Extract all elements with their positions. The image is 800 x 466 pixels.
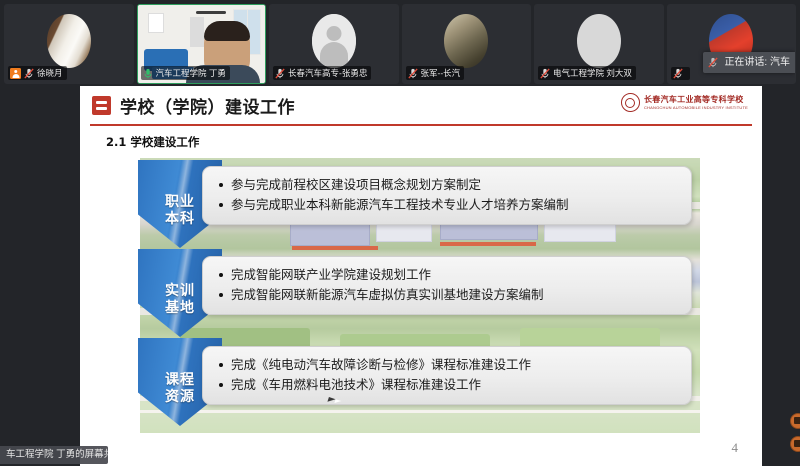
logo-name-en: CHANGCHUN AUTOMOBILE INDUSTRY INSTITUTE	[644, 105, 748, 111]
participant-filmstrip: 徐晓月 汽车工	[0, 0, 800, 85]
participant-tile-self[interactable]: 汽车工程学院 丁勇	[137, 4, 267, 84]
logo-name-cn: 长春汽车工业高等专科学校	[644, 95, 748, 105]
mic-muted-icon	[275, 68, 285, 79]
mic-muted-icon	[540, 68, 550, 79]
mic-muted-icon	[408, 68, 418, 79]
bullet-item: 完成《车用燃料电池技术》课程标准建设工作	[217, 375, 681, 395]
host-badge-icon	[10, 68, 21, 79]
section-callout: 参与完成前程校区建设项目概念规划方案制定 参与完成职业本科新能源汽车工程技术专业…	[202, 166, 692, 225]
university-logo: 长春汽车工业高等专科学校 CHANGCHUN AUTOMOBILE INDUST…	[621, 93, 748, 112]
screen-share-banner: 车工程学院 丁勇的屏幕共享	[0, 446, 108, 464]
participant-name: 徐晓月	[37, 67, 63, 79]
header-divider	[90, 124, 752, 126]
participant-name: 张军--长汽	[421, 67, 461, 79]
participant-namebar: 电气工程学院 刘大双	[538, 66, 636, 80]
slide-subtitle: 2.1 学校建设工作	[106, 134, 199, 150]
red-list-icon	[92, 96, 111, 115]
participant-tile[interactable]: 长春汽车高专-张勇忠	[269, 4, 399, 84]
bullet-item: 完成《纯电动汽车故障诊断与检修》课程标准建设工作	[217, 355, 681, 375]
participant-namebar: 张军--长汽	[406, 66, 465, 80]
bullet-item: 完成智能网联产业学院建设规划工作	[217, 265, 681, 285]
participant-name: 电气工程学院 刘大双	[553, 67, 632, 79]
avatar	[47, 14, 91, 68]
mic-muted-icon	[708, 57, 718, 68]
speaking-label: 正在讲话: 汽车	[724, 56, 790, 69]
participant-name: 长春汽车高专-张勇忠	[288, 67, 367, 79]
participant-namebar	[671, 67, 690, 80]
slide-title: 学校（学院）建设工作	[120, 93, 295, 118]
meeting-app: 徐晓月 汽车工	[0, 0, 800, 466]
participant-namebar: 徐晓月	[8, 66, 67, 80]
bullet-item: 参与完成职业本科新能源汽车工程技术专业人才培养方案编制	[217, 195, 681, 215]
participant-tile[interactable]: 徐晓月	[4, 4, 134, 84]
bullet-item: 参与完成前程校区建设项目概念规划方案制定	[217, 175, 681, 195]
floating-action-icons[interactable]	[790, 413, 800, 452]
participant-tile[interactable]: 电气工程学院 刘大双	[534, 4, 664, 84]
participant-tile[interactable]: 正在讲话: 汽车	[667, 4, 797, 84]
participant-namebar: 汽车工程学院 丁勇	[141, 66, 230, 80]
mic-muted-icon	[24, 68, 34, 79]
participant-name: 汽车工程学院 丁勇	[156, 67, 226, 79]
slide-header: 学校（学院）建设工作 长春汽车工业高等专科学校 CHANGCHUN AUTOMO…	[80, 86, 762, 126]
participant-namebar: 长春汽车高专-张勇忠	[273, 66, 371, 80]
slide-page-number: 4	[732, 440, 739, 456]
avatar	[312, 14, 356, 68]
avatar	[444, 14, 488, 68]
avatar	[577, 14, 621, 68]
section-callout: 完成智能网联产业学院建设规划工作 完成智能网联新能源汽车虚拟仿真实训基地建设方案…	[202, 256, 692, 315]
mic-active-icon	[143, 68, 153, 79]
participant-tile[interactable]: 张军--长汽	[402, 4, 532, 84]
mic-muted-icon	[673, 68, 683, 79]
shared-screen-slide[interactable]: 学校（学院）建设工作 长春汽车工业高等专科学校 CHANGCHUN AUTOMO…	[80, 86, 762, 466]
share-control-icon[interactable]	[790, 413, 800, 429]
university-seal-icon	[621, 93, 640, 112]
bullet-item: 完成智能网联新能源汽车虚拟仿真实训基地建设方案编制	[217, 285, 681, 305]
speaking-tooltip: 正在讲话: 汽车	[703, 52, 795, 73]
section-callout: 完成《纯电动汽车故障诊断与检修》课程标准建设工作 完成《车用燃料电池技术》课程标…	[202, 346, 692, 405]
annotate-icon[interactable]	[790, 436, 800, 452]
